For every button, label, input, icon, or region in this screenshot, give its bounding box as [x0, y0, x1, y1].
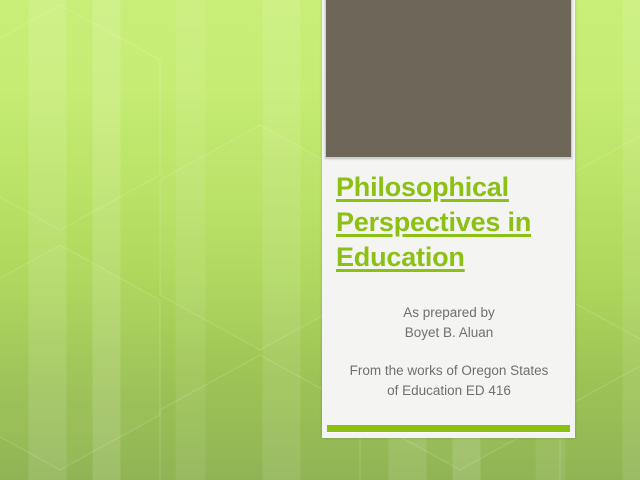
title-image-placeholder — [325, 0, 572, 158]
page-title: Philosophical Perspectives in Education — [336, 170, 568, 275]
accent-bar — [327, 425, 570, 432]
subtitle-group-author: As prepared by Boyet B. Aluan — [330, 303, 568, 342]
subtitle-line: From the works of Oregon States — [330, 361, 568, 381]
subtitle-block: As prepared by Boyet B. Aluan From the w… — [330, 303, 568, 400]
subtitle-line: of Education ED 416 — [330, 381, 568, 401]
subtitle-line: Boyet B. Aluan — [330, 323, 568, 343]
subtitle-line: As prepared by — [330, 303, 568, 323]
subtitle-group-source: From the works of Oregon States of Educa… — [330, 361, 568, 400]
presentation-title-slide: Philosophical Perspectives in Education … — [0, 0, 640, 480]
